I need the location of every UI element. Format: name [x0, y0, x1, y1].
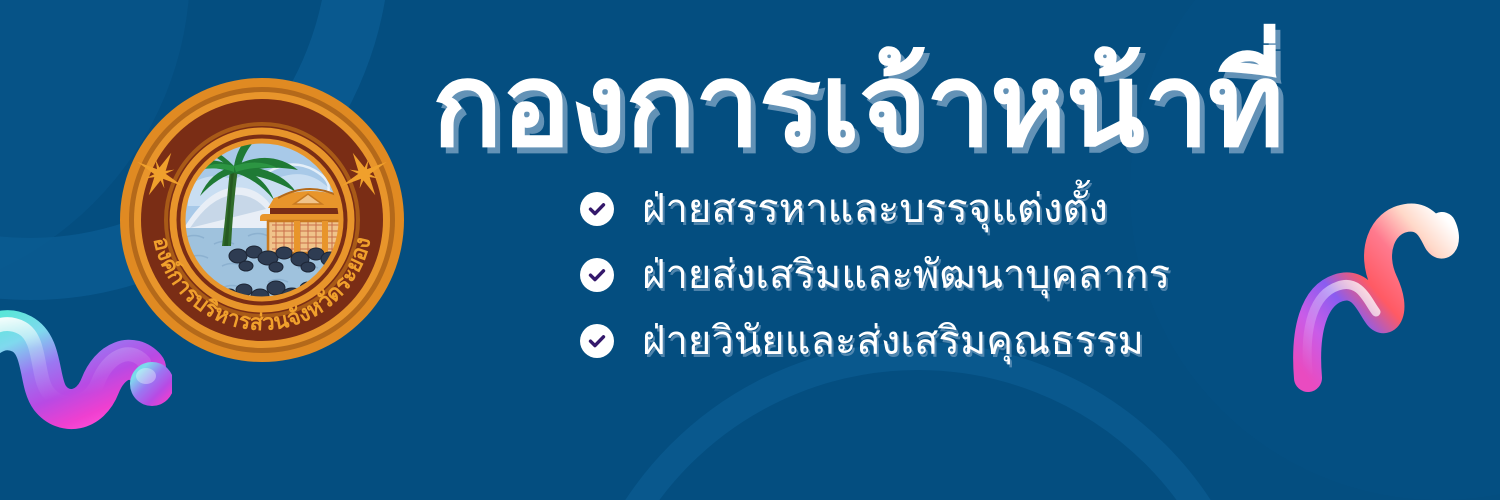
department-list: ฝ่ายสรรหาและบรรจุแต่งตั้ง ฝ่ายส่งเสริมแล… [580, 188, 1432, 362]
check-circle-icon [580, 258, 614, 292]
list-item-label: ฝ่ายส่งเสริมและพัฒนาบุคลากร [642, 253, 1170, 297]
rayong-pao-seal-icon: องค์การบริหารส่วนจังหวัดระยอง [118, 76, 406, 364]
check-circle-icon [580, 324, 614, 358]
list-item-label: ฝ่ายวินัยและส่งเสริมคุณธรรม [642, 319, 1144, 363]
list-item-label: ฝ่ายสรรหาและบรรจุแต่งตั้ง [642, 187, 1108, 231]
banner-root: องค์การบริหารส่วนจังหวัดระยอง กองการเจ้า… [0, 0, 1500, 500]
list-item[interactable]: ฝ่ายวินัยและส่งเสริมคุณธรรม [580, 320, 1432, 362]
list-item[interactable]: ฝ่ายสรรหาและบรรจุแต่งตั้ง [580, 188, 1432, 230]
page-title: กองการเจ้าหน้าที่ [432, 46, 1432, 164]
check-circle-icon [580, 192, 614, 226]
content-block: กองการเจ้าหน้าที่ ฝ่ายสรรหาและบรรจุแต่งต… [432, 46, 1432, 386]
list-item[interactable]: ฝ่ายส่งเสริมและพัฒนาบุคลากร [580, 254, 1432, 296]
